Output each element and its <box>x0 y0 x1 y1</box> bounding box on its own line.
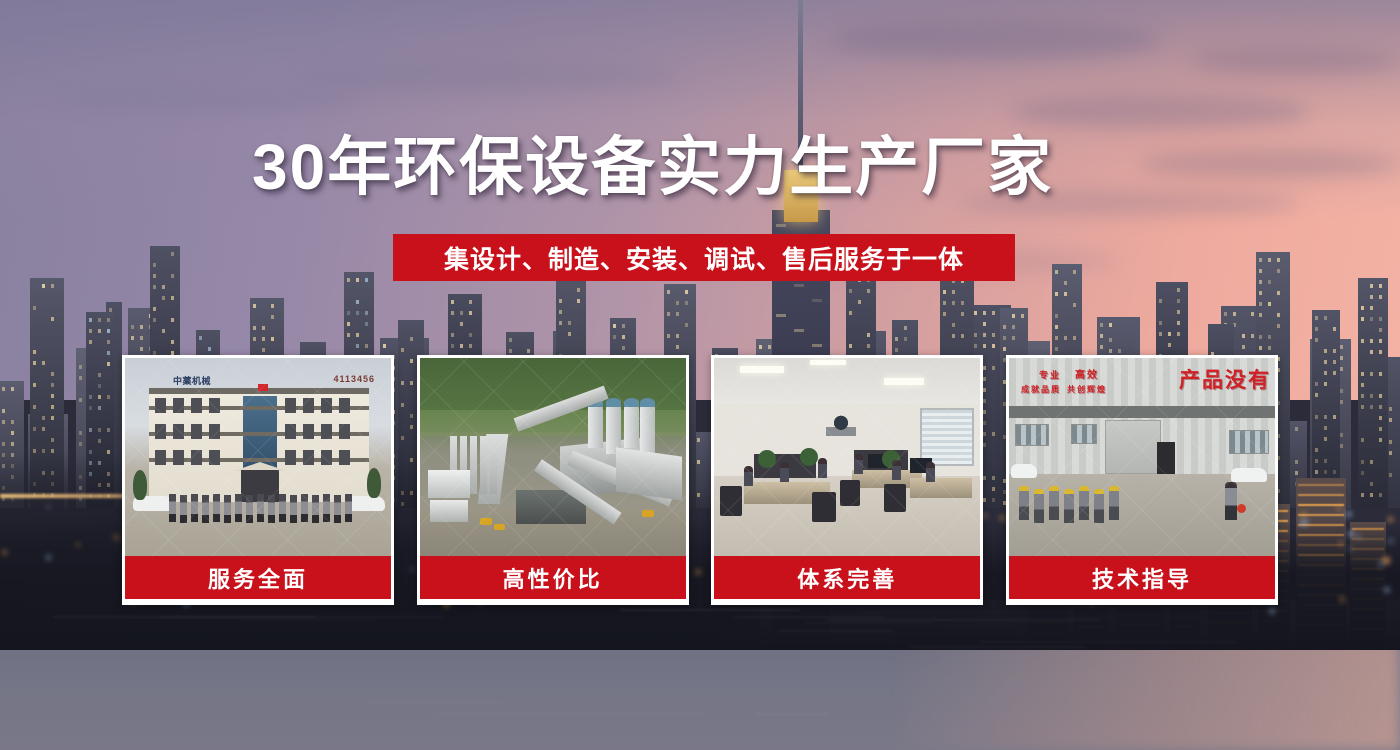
water-streak <box>755 713 829 715</box>
water-streak <box>366 702 501 704</box>
subtitle-text: 集设计、制造、安装、调试、售后服务于一体 <box>444 240 964 276</box>
water-streak <box>314 663 481 665</box>
photo-office-building: 中藁机械 4113456 <box>125 358 391 556</box>
watermark-overlay <box>714 358 980 556</box>
water-streak <box>734 616 886 618</box>
water-streak <box>861 611 1020 613</box>
water-streak <box>620 609 800 611</box>
card-caption-text: 体系完善 <box>797 562 897 594</box>
water-streak <box>805 622 930 624</box>
water-streak <box>160 616 444 618</box>
water-streak <box>241 619 377 621</box>
watermark-overlay <box>420 358 686 556</box>
water-streak <box>778 630 892 632</box>
feature-card-value[interactable]: 高性价比 <box>417 355 689 605</box>
watermark-overlay <box>125 358 391 556</box>
card-caption-text: 高性价比 <box>503 562 603 594</box>
subtitle-bar: 集设计、制造、安装、调试、售后服务于一体 <box>393 234 1015 281</box>
card-caption-bar: 服务全面 <box>125 556 391 599</box>
card-caption-bar: 高性价比 <box>420 556 686 599</box>
photo-plant-aerial <box>420 358 686 556</box>
feature-card-system[interactable]: 体系完善 <box>711 355 983 605</box>
photo-office-interior <box>714 358 980 556</box>
feature-card-guidance[interactable]: 产品没有 专业 高效 成就品质 共创辉煌 技术指导 <box>1006 355 1278 605</box>
feature-card-service[interactable]: 中藁机械 4113456 服务全面 <box>122 355 394 605</box>
card-caption-text: 服务全面 <box>208 562 308 594</box>
card-caption-bar: 技术指导 <box>1009 556 1275 599</box>
page-title: 30年环保设备实力生产厂家 <box>252 133 1053 202</box>
water-streak <box>401 722 534 724</box>
feature-card-row: 中藁机械 4113456 服务全面 <box>122 355 1278 605</box>
card-caption-bar: 体系完善 <box>714 556 980 599</box>
promotional-banner: 30年环保设备实力生产厂家 集设计、制造、安装、调试、售后服务于一体 中藁机械 … <box>0 0 1400 750</box>
water-streak <box>433 713 705 715</box>
water-streak <box>909 646 1086 648</box>
photo-factory-training: 产品没有 专业 高效 成就品质 共创辉煌 <box>1009 358 1275 556</box>
water-streak <box>981 641 1239 643</box>
watermark-overlay <box>1009 358 1275 556</box>
card-caption-text: 技术指导 <box>1092 562 1192 594</box>
